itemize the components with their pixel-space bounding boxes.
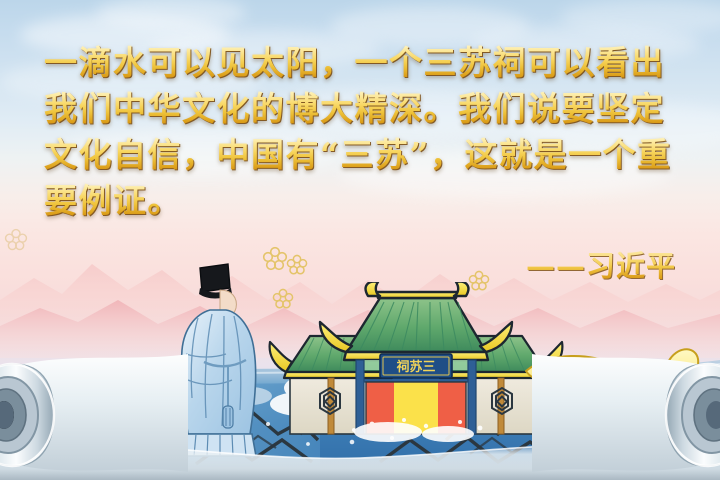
- quote-line-1: 一滴水可以见太阳，一个三苏祠可以看出: [44, 40, 676, 86]
- quote-attribution: ——习近平: [526, 243, 676, 285]
- poster-canvas: 祠苏三: [0, 0, 720, 480]
- blossom-decoration: [4, 228, 28, 252]
- quote-line-4: 要例证。: [44, 178, 676, 224]
- blossom-decoration: [286, 254, 308, 276]
- temple-plaque: 祠苏三: [380, 354, 452, 378]
- scroll-roll-right: [532, 346, 720, 480]
- scroll-roll-left: [0, 346, 188, 480]
- quote-block: 一滴水可以见太阳，一个三苏祠可以看出 我们中华文化的博大精深。我们说要坚定 文化…: [0, 40, 720, 224]
- quote-line-2: 我们中华文化的博大精深。我们说要坚定: [44, 86, 676, 132]
- quote-line-3: 文化自信，中国有“三苏”，这就是一个重: [44, 132, 676, 178]
- plaque-text: 祠苏三: [396, 359, 435, 375]
